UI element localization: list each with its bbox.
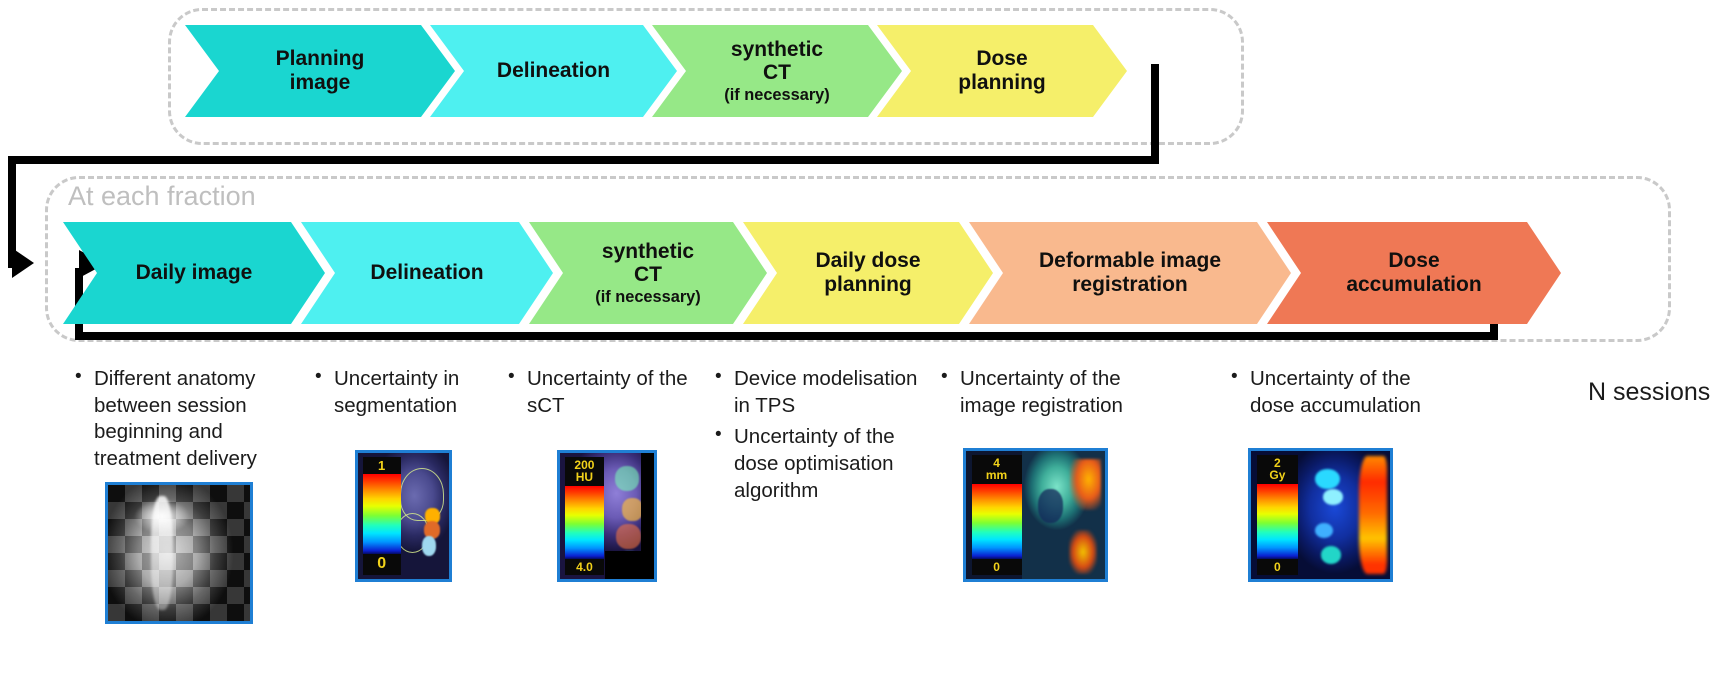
step-synthetic-ct-daily-sublabel: (if necessary) bbox=[595, 288, 700, 306]
step-dose-accumulation[interactable]: Dose accumulation bbox=[1267, 222, 1561, 324]
dir-colorbar: 4 mm 0 bbox=[972, 455, 1022, 575]
connector-segment-h1 bbox=[8, 156, 1159, 164]
thumbnail-dir-vector-map[interactable]: 4 mm 0 bbox=[963, 448, 1108, 582]
n-sessions-label: N sessions bbox=[1588, 378, 1710, 407]
connector-segment-h2 bbox=[75, 332, 1498, 340]
segmentation-colorbar: 1 0 bbox=[363, 457, 401, 575]
colorbar-bottom-label: 0 bbox=[363, 554, 401, 575]
step-delineation-planning-label: Delineation bbox=[497, 59, 610, 83]
planning-step-row: Planning image Delineation synthetic CT … bbox=[185, 25, 1225, 117]
step-deformable-image-registration-label: Deformable image registration bbox=[1039, 249, 1221, 296]
sct-colorbar: 200 HU 4.0 bbox=[565, 457, 604, 575]
thumbnail-dose-difference-map[interactable]: 2 Gy 0 bbox=[1248, 448, 1393, 582]
uncertainty-column-delineation: Uncertainty in segmentation bbox=[312, 366, 477, 424]
bullet-item: Different anatomy between session beginn… bbox=[72, 366, 287, 473]
step-delineation-planning[interactable]: Delineation bbox=[430, 25, 677, 117]
diagram-canvas: At each fraction Planning image Delineat… bbox=[0, 0, 1725, 691]
step-delineation-daily-label: Delineation bbox=[370, 261, 483, 285]
step-dose-planning-label: Dose planning bbox=[958, 47, 1046, 94]
bullet-item: Uncertainty of the image registration bbox=[938, 366, 1138, 419]
step-daily-image-label: Daily image bbox=[136, 261, 253, 285]
colorbar-bottom-label: 4.0 bbox=[565, 559, 604, 576]
step-deformable-image-registration[interactable]: Deformable image registration bbox=[969, 222, 1291, 324]
checkerboard-ct-image bbox=[108, 485, 250, 621]
fraction-step-row: Daily image Delineation synthetic CT (if… bbox=[63, 222, 1561, 324]
thumbnail-checkerboard-ct[interactable] bbox=[105, 482, 253, 624]
colorbar-ramp bbox=[565, 486, 604, 559]
colorbar-top-label: 200 HU bbox=[565, 457, 604, 486]
uncertainty-column-daily-image: Different anatomy between session beginn… bbox=[72, 366, 287, 478]
step-dose-planning[interactable]: Dose planning bbox=[877, 25, 1127, 117]
uncertainty-column-dose-accumulation: Uncertainty of the dose accumulation bbox=[1228, 366, 1433, 424]
colorbar-ramp bbox=[1257, 484, 1299, 559]
thumbnail-segmentation-map[interactable]: 1 0 bbox=[355, 450, 452, 582]
bullet-item: Uncertainty of the dose optimisation alg… bbox=[712, 424, 922, 504]
uncertainty-column-image-registration: Uncertainty of the image registration bbox=[938, 366, 1138, 424]
bullet-item: Device modelisation in TPS bbox=[712, 366, 922, 419]
colorbar-top-label: 1 bbox=[363, 457, 401, 475]
fraction-phase-caption: At each fraction bbox=[68, 181, 256, 212]
step-synthetic-ct-planning-label: synthetic CT bbox=[731, 38, 823, 85]
step-synthetic-ct-daily-label: synthetic CT bbox=[602, 240, 694, 287]
step-daily-dose-planning-label: Daily dose planning bbox=[815, 249, 920, 296]
step-delineation-daily[interactable]: Delineation bbox=[301, 222, 553, 324]
step-planning-image-label: Planning image bbox=[276, 47, 365, 94]
colorbar-top-label: 2 Gy bbox=[1257, 455, 1299, 484]
bullet-item: Uncertainty in segmentation bbox=[312, 366, 477, 419]
colorbar-ramp bbox=[972, 484, 1022, 559]
step-planning-image[interactable]: Planning image bbox=[185, 25, 455, 117]
step-dose-accumulation-label: Dose accumulation bbox=[1346, 249, 1481, 296]
dose-colorbar: 2 Gy 0 bbox=[1257, 455, 1299, 575]
colorbar-ramp bbox=[363, 474, 401, 554]
uncertainty-column-synthetic-ct: Uncertainty of the sCT bbox=[505, 366, 695, 424]
step-daily-image[interactable]: Daily image bbox=[63, 222, 325, 324]
colorbar-top-label: 4 mm bbox=[972, 455, 1022, 484]
step-synthetic-ct-daily[interactable]: synthetic CT (if necessary) bbox=[529, 222, 767, 324]
bullet-item: Uncertainty of the dose accumulation bbox=[1228, 366, 1433, 419]
colorbar-bottom-label: 0 bbox=[972, 559, 1022, 576]
step-synthetic-ct-planning-sublabel: (if necessary) bbox=[724, 86, 829, 104]
step-daily-dose-planning[interactable]: Daily dose planning bbox=[743, 222, 993, 324]
colorbar-bottom-label: 0 bbox=[1257, 559, 1299, 576]
bullet-item: Uncertainty of the sCT bbox=[505, 366, 695, 419]
uncertainty-column-dose-planning: Device modelisation in TPS Uncertainty o… bbox=[712, 366, 922, 509]
thumbnail-sct-error-map[interactable]: 200 HU 4.0 bbox=[557, 450, 657, 582]
step-synthetic-ct-planning[interactable]: synthetic CT (if necessary) bbox=[652, 25, 902, 117]
connector-arrowhead-left bbox=[12, 248, 34, 278]
